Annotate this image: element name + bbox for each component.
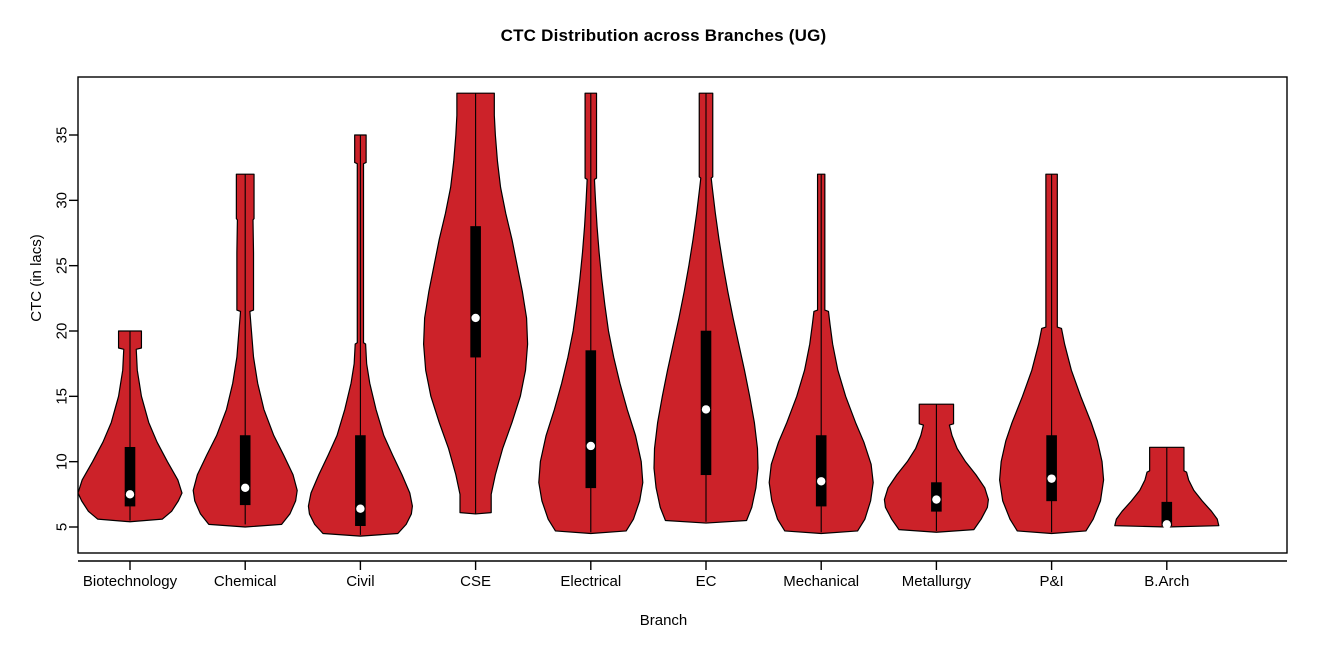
violin-electrical[interactable] xyxy=(539,93,643,533)
violin-median-point xyxy=(356,505,364,513)
violin-iqr-box xyxy=(586,351,596,488)
violin-iqr-box xyxy=(471,226,481,357)
violin-median-point xyxy=(126,490,134,498)
violin-iqr-box xyxy=(240,436,250,505)
violin-iqr-box xyxy=(1047,436,1057,501)
x-axis-tick-label-cse: CSE xyxy=(460,573,491,590)
violin-ec[interactable] xyxy=(654,93,758,523)
x-axis-tick-label-p-i: P&I xyxy=(1040,573,1064,590)
y-axis-tick-label: 35 xyxy=(54,127,71,144)
y-axis-tick-label: 30 xyxy=(54,192,71,209)
violin-biotechnology[interactable] xyxy=(78,331,182,522)
violin-median-point xyxy=(1163,520,1171,528)
violin-p-i[interactable] xyxy=(1000,174,1104,533)
y-axis-tick-label: 10 xyxy=(54,453,71,470)
violin-chart-canvas: 5101520253035BiotechnologyChemicalCivilC… xyxy=(0,0,1327,653)
x-axis-tick-label-b-arch: B.Arch xyxy=(1144,573,1189,590)
violin-median-point xyxy=(1047,474,1055,482)
violin-median-point xyxy=(817,477,825,485)
violin-median-point xyxy=(932,495,940,503)
x-axis-tick-label-electrical: Electrical xyxy=(560,573,621,590)
violin-cse[interactable] xyxy=(424,93,528,514)
x-axis-tick-label-biotechnology: Biotechnology xyxy=(83,573,178,590)
violin-metallurgy[interactable] xyxy=(884,404,988,532)
violin-b-arch[interactable] xyxy=(1115,447,1219,528)
y-axis-tick-label: 25 xyxy=(54,257,71,274)
violin-median-point xyxy=(587,442,595,450)
violins-layer xyxy=(78,93,1219,536)
x-axis-tick-label-chemical: Chemical xyxy=(214,573,277,590)
violin-civil[interactable] xyxy=(308,135,412,536)
x-axis-tick-label-mechanical: Mechanical xyxy=(783,573,859,590)
y-axis-tick-label: 20 xyxy=(54,323,71,340)
violin-median-point xyxy=(471,314,479,322)
violin-median-point xyxy=(702,405,710,413)
x-axis-tick-label-metallurgy: Metallurgy xyxy=(902,573,972,590)
violin-chemical[interactable] xyxy=(193,174,297,527)
violin-iqr-box xyxy=(816,436,826,507)
violin-median-point xyxy=(241,484,249,492)
y-axis-tick-label: 15 xyxy=(54,388,71,405)
x-axis-tick-label-ec: EC xyxy=(696,573,717,590)
violin-mechanical[interactable] xyxy=(769,174,873,533)
y-axis-tick-label: 5 xyxy=(54,523,71,531)
violin-iqr-box xyxy=(701,331,711,475)
x-axis-tick-label-civil: Civil xyxy=(346,573,374,590)
violin-plot-figure: CTC Distribution across Branches (UG) CT… xyxy=(0,0,1327,653)
